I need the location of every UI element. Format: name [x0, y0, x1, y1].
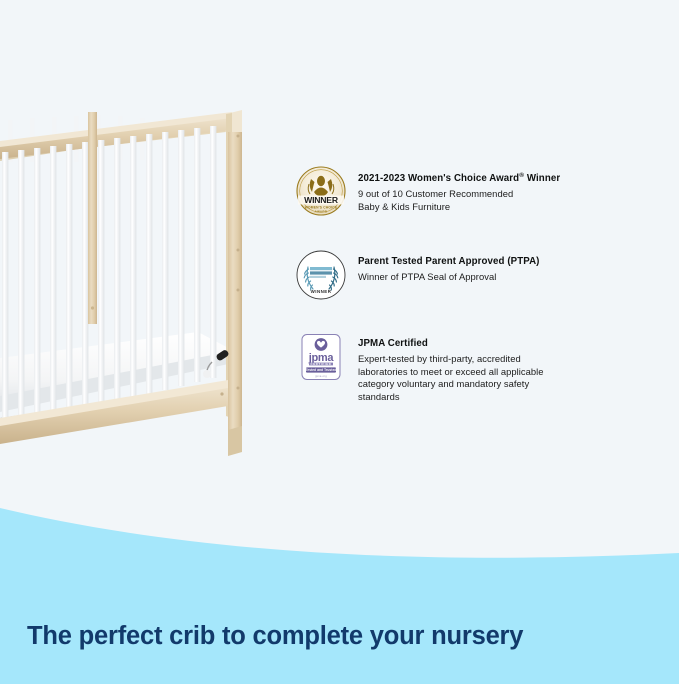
seal-sub-label-2: Tested and Trusted — [306, 368, 337, 372]
seal-main-label: WINNER — [304, 195, 339, 205]
badge-description: 9 out of 10 Customer Recommended Baby & … — [358, 188, 560, 213]
badge-description: Winner of PTPA Seal of Approval — [358, 271, 539, 284]
badge-text-block: Parent Tested Parent Approved (PTPA) Win… — [358, 250, 539, 284]
bottom-blue-band — [0, 470, 679, 684]
badge-description-line: 9 out of 10 Customer Recommended — [358, 188, 560, 201]
badge-title-main: 2021-2023 Women's Choice Award — [358, 173, 519, 184]
seal-main-label: WINNER — [311, 289, 332, 294]
seal-sub-label-2: AWARD — [315, 209, 328, 213]
badge-description-line: laboratories to meet or exceed all appli… — [358, 366, 544, 379]
band-curve-shape — [0, 508, 679, 684]
crib-product-image — [0, 100, 262, 462]
jpma-certified-seal-icon: jpma CERTIFIED Tested and Trusted jpma.o… — [296, 332, 346, 382]
certification-badge-list: WINNER WOMEN'S CHOICE AWARD 2021-2023 Wo… — [296, 166, 596, 403]
badge-description-line: standards — [358, 391, 544, 404]
badge-description-line: Baby & Kids Furniture — [358, 201, 560, 214]
badge-title: JPMA Certified — [358, 338, 544, 350]
badge-title-tail: Winner — [524, 173, 560, 184]
badge-description-line: Winner of PTPA Seal of Approval — [358, 271, 539, 284]
badge-description-line: Expert-tested by third-party, accredited — [358, 353, 544, 366]
crib-corner-post — [226, 110, 242, 456]
badge-description-line: category voluntary and mandatory safety — [358, 378, 544, 391]
page-headline: The perfect crib to complete your nurser… — [27, 622, 523, 651]
womens-choice-award-winner-seal-icon: WINNER WOMEN'S CHOICE AWARD — [296, 166, 346, 216]
badge-jpma: jpma CERTIFIED Tested and Trusted jpma.o… — [296, 332, 596, 403]
seal-sub-label-3: jpma.org — [314, 374, 327, 378]
badge-womens-choice-award: WINNER WOMEN'S CHOICE AWARD 2021-2023 Wo… — [296, 166, 596, 216]
badge-description: Expert-tested by third-party, accredited… — [358, 353, 544, 403]
badge-text-block: 2021-2023 Women's Choice Award® Winner 9… — [358, 166, 560, 213]
badge-title: 2021-2023 Women's Choice Award® Winner — [358, 172, 560, 185]
crib-mid-post — [88, 112, 97, 324]
seal-sub-label: CERTIFIED — [310, 362, 331, 366]
badge-ptpa: WINNER Parent Tested Parent Approved (PT… — [296, 250, 596, 300]
badge-text-block: JPMA Certified Expert-tested by third-pa… — [358, 332, 544, 403]
ptpa-seal-of-approval-icon: WINNER — [296, 250, 346, 300]
product-feature-panel: WINNER WOMEN'S CHOICE AWARD 2021-2023 Wo… — [0, 0, 679, 684]
badge-title: Parent Tested Parent Approved (PTPA) — [358, 256, 539, 268]
